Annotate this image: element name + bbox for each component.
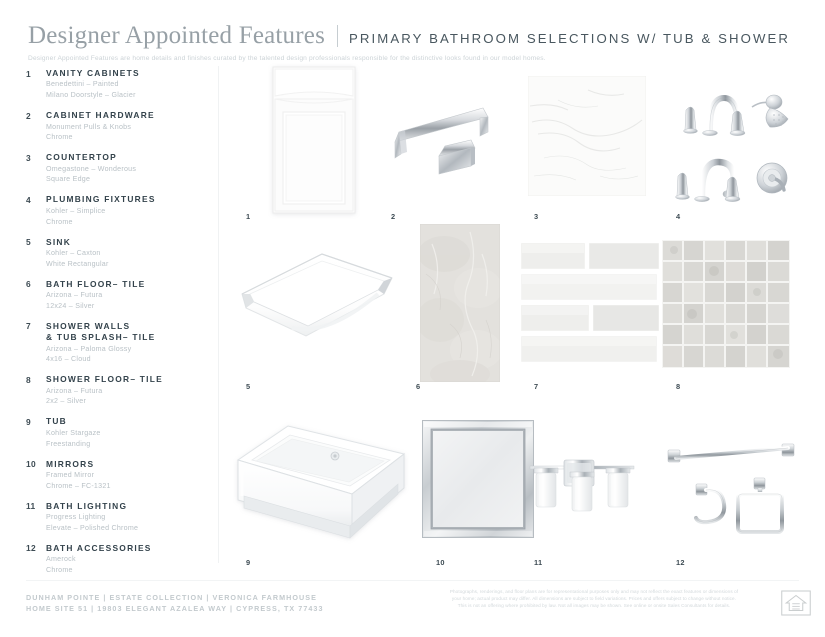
list-item: 9 TUB Kohler Stargaze Freestanding (26, 416, 204, 449)
grid-caption-1: 1 (246, 212, 250, 221)
bath-floor-tile-plank-icon (420, 224, 500, 382)
mosaic-shower-floor-tile-icon (662, 240, 790, 368)
list-item: 7 SHOWER WALLS & TUB SPLASH– TILE Arizon… (26, 321, 204, 365)
legend-line-1: Monument Pulls & Knobs (46, 123, 204, 133)
bath-accessory-set-icon (662, 440, 802, 540)
legend-number: 11 (26, 501, 46, 534)
legend-line-2: Chrome (46, 133, 204, 143)
grid-caption-9: 9 (246, 558, 250, 567)
selection-sheet: Designer Appointed Features PRIMARY BATH… (0, 0, 825, 637)
legend-number: 12 (26, 543, 46, 576)
list-item: 5 SINK Kohler – Caxton White Rectangular (26, 237, 204, 270)
page-header: Designer Appointed Features PRIMARY BATH… (28, 22, 797, 62)
legend-line-2: Chrome – FC-1321 (46, 482, 204, 492)
legend-line-1: Progress Lighting (46, 513, 204, 523)
column-divider (218, 66, 219, 563)
title-divider (337, 25, 338, 47)
grid-caption-6: 6 (416, 382, 420, 391)
grid-caption-5: 5 (246, 382, 250, 391)
legend-line-1: Kohler – Simplice (46, 207, 204, 217)
grid-cell-5: 5 (232, 224, 397, 392)
legend-line-2: Chrome (46, 218, 204, 228)
subway-wall-tile-panel-icon (520, 240, 660, 370)
legend-line-2: Freestanding (46, 440, 204, 450)
undermount-rectangular-sink-icon (232, 232, 397, 382)
grid-cell-11: 11 (520, 406, 660, 566)
legend-number: 8 (26, 374, 46, 407)
grid-caption-2: 2 (391, 212, 395, 221)
legend-number: 2 (26, 110, 46, 143)
legend-title: TUB (46, 416, 204, 427)
header-note: Designer Appointed Features are home det… (28, 55, 797, 62)
page-subtitle: PRIMARY BATHROOM SELECTIONS W/ TUB & SHO… (349, 31, 790, 46)
list-item: 10 MIRRORS Framed Mirror Chrome – FC-132… (26, 459, 204, 492)
legend-title: COUNTERTOP (46, 152, 204, 163)
quartz-countertop-swatch-icon (528, 76, 646, 196)
grid-caption-8: 8 (676, 382, 680, 391)
legend-line-1: Amerock (46, 555, 204, 565)
legend-title: MIRRORS (46, 459, 204, 470)
grid-cell-4: 4 (662, 66, 812, 222)
legend-title: SINK (46, 237, 204, 248)
list-item: 11 BATH LIGHTING Progress Lighting Eleva… (26, 501, 204, 534)
grid-cell-1: 1 (232, 66, 372, 222)
legend-title: CABINET HARDWARE (46, 110, 204, 121)
grid-cell-7: 7 (520, 224, 660, 392)
grid-caption-3: 3 (534, 212, 538, 221)
disclaimer-line-2: your home; actual product may differ. Al… (419, 595, 769, 602)
legend-number: 7 (26, 321, 46, 365)
legend-line-2: Milano Doorstyle – Glacier (46, 91, 204, 101)
legend-title: PLUMBING FIXTURES (46, 194, 204, 205)
list-item: 8 SHOWER FLOOR– TILE Arizona – Futura 2x… (26, 374, 204, 407)
legend-number: 6 (26, 279, 46, 312)
grid-caption-4: 4 (676, 212, 680, 221)
list-item: 12 BATH ACCESSORIES Amerock Chrome (26, 543, 204, 576)
grid-caption-11: 11 (534, 558, 542, 567)
cabinet-pull-and-knob-icon (387, 96, 502, 196)
community-info: DUNHAM POINTE | ESTATE COLLECTION | VERO… (26, 592, 324, 614)
community-line-2: HOME SITE 51 | 19803 ELEGANT AZALEA WAY … (26, 603, 324, 614)
legend-title: BATH ACCESSORIES (46, 543, 204, 554)
legend-number: 9 (26, 416, 46, 449)
legal-disclaimer: Photographs, renderings, and floor plans… (419, 588, 769, 609)
legend-number: 4 (26, 194, 46, 227)
legend-number: 1 (26, 68, 46, 101)
legend-title: VANITY CABINETS (46, 68, 204, 79)
page-title: Designer Appointed Features (28, 22, 325, 50)
disclaimer-line-3: This is not an offering where prohibited… (419, 602, 769, 609)
grid-caption-7: 7 (534, 382, 538, 391)
legend-title: SHOWER WALLS & TUB SPLASH– TILE (46, 321, 204, 343)
legend-line-1: Omegastone – Wonderous (46, 165, 204, 175)
grid-caption-10: 10 (436, 558, 445, 567)
legend-line-1: Kohler – Caxton (46, 249, 204, 259)
legend-line-2: 4x16 – Cloud (46, 355, 204, 365)
footer-divider (26, 580, 799, 581)
list-item: 1 VANITY CABINETS Benedettini – Painted … (26, 68, 204, 101)
legend-line-2: Square Edge (46, 175, 204, 185)
selections-legend: 1 VANITY CABINETS Benedettini – Painted … (26, 68, 204, 585)
legend-number: 5 (26, 237, 46, 270)
tub-shower-faucet-set-icon (670, 74, 810, 204)
legend-line-2: 2x2 – Silver (46, 397, 204, 407)
list-item: 4 PLUMBING FIXTURES Kohler – Simplice Ch… (26, 194, 204, 227)
legend-line-1: Arizona – Paloma Glossy (46, 345, 204, 355)
equal-housing-opportunity-icon (781, 590, 811, 616)
list-item: 3 COUNTERTOP Omegastone – Wonderous Squa… (26, 152, 204, 185)
list-item: 2 CABINET HARDWARE Monument Pulls & Knob… (26, 110, 204, 143)
legend-line-2: 12x24 – Silver (46, 302, 204, 312)
grid-cell-8: 8 (662, 224, 802, 392)
disclaimer-line-1: Photographs, renderings, and floor plans… (419, 588, 769, 595)
grid-cell-6: 6 (402, 224, 532, 392)
legend-title: BATH LIGHTING (46, 501, 204, 512)
legend-title: SHOWER FLOOR– TILE (46, 374, 204, 385)
title-row: Designer Appointed Features PRIMARY BATH… (28, 22, 797, 50)
freestanding-tub-icon (232, 416, 412, 546)
grid-caption-12: 12 (676, 558, 685, 567)
cabinet-door-swatch-icon (272, 66, 356, 214)
product-image-grid: 1 (232, 66, 807, 565)
grid-cell-12: 12 (662, 406, 812, 566)
three-light-vanity-bar-icon (520, 450, 644, 540)
grid-cell-3: 3 (520, 66, 660, 222)
grid-cell-9: 9 (232, 406, 412, 566)
list-item: 6 BATH FLOOR– TILE Arizona – Futura 12x2… (26, 279, 204, 312)
legend-line-2: Chrome (46, 566, 204, 576)
legend-title: BATH FLOOR– TILE (46, 279, 204, 290)
legend-line-2: Elevate – Polished Chrome (46, 524, 204, 534)
community-line-1: DUNHAM POINTE | ESTATE COLLECTION | VERO… (26, 592, 324, 603)
framed-chrome-mirror-icon (422, 420, 534, 538)
legend-line-2: White Rectangular (46, 260, 204, 270)
legend-number: 3 (26, 152, 46, 185)
legend-line-1: Arizona – Futura (46, 291, 204, 301)
legend-line-1: Framed Mirror (46, 471, 204, 481)
legend-line-1: Benedettini – Painted (46, 80, 204, 90)
grid-cell-2: 2 (377, 66, 517, 222)
legend-line-1: Kohler Stargaze (46, 429, 204, 439)
legend-line-1: Arizona – Futura (46, 387, 204, 397)
legend-number: 10 (26, 459, 46, 492)
